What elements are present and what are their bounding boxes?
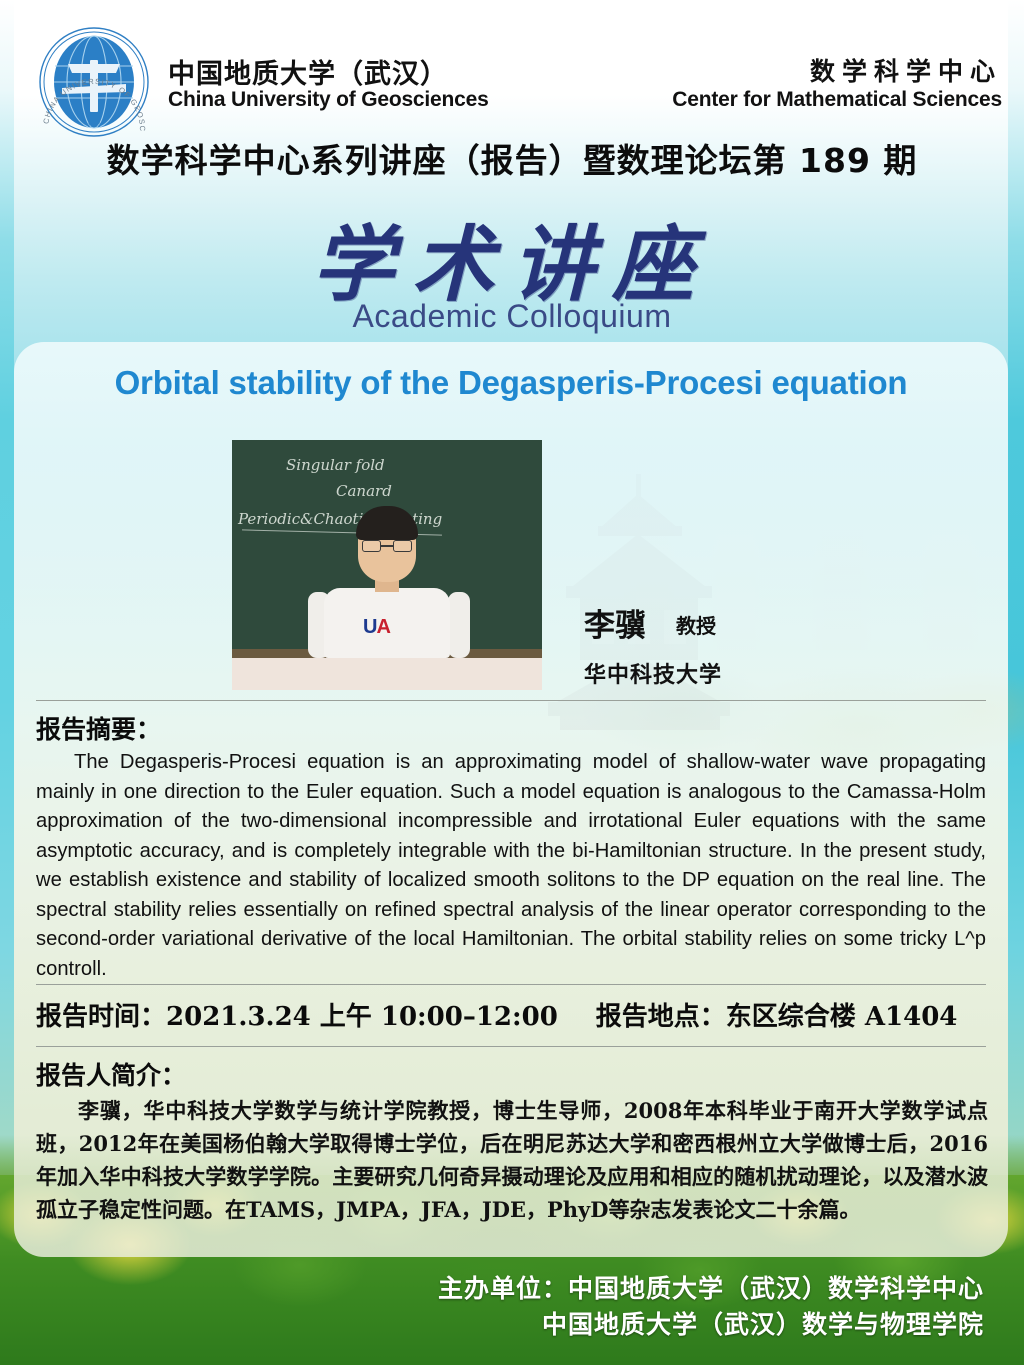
calligraphy-title-en: Academic Colloquium — [0, 298, 1024, 335]
poster-header: 1952 CHINA UNIVERSITY OF GEOSCIENCES 中国地… — [0, 0, 1024, 118]
university-name-cn: 中国地质大学（武汉） — [168, 52, 448, 91]
shirt-logo: UA — [363, 616, 411, 638]
blackboard-line-1: Singular fold — [286, 456, 385, 474]
footer-line-1: 主办单位：中国地质大学（武汉）数学科学中心 — [0, 1271, 984, 1307]
talk-title: Orbital stability of the Degasperis-Proc… — [14, 364, 1008, 402]
blackboard-line-2: Canard — [336, 482, 392, 500]
poster-footer: 主办单位：中国地质大学（武汉）数学科学中心 中国地质大学（武汉）数学与物理学院 — [0, 1271, 1024, 1343]
background-left-gutter — [0, 0, 14, 1240]
speaker-glasses-icon — [362, 540, 412, 552]
cug-globe-logo-icon: 1952 CHINA UNIVERSITY OF GEOSCIENCES — [38, 26, 150, 138]
event-place-value: 东区综合楼 A1404 — [726, 1002, 958, 1032]
university-name-en: China University of Geosciences — [168, 88, 489, 112]
content-card: Orbital stability of the Degasperis-Proc… — [14, 342, 1008, 1257]
abstract-heading: 报告摘要： — [36, 710, 161, 746]
poster-root: 1952 CHINA UNIVERSITY OF GEOSCIENCES 中国地… — [0, 0, 1024, 1365]
svg-text:1952: 1952 — [87, 123, 101, 129]
event-place-label: 报告地点： — [596, 1002, 726, 1032]
event-details: 报告时间：2021.3.24 上午 10:00–12:00报告地点：东区综合楼 … — [36, 996, 986, 1033]
speaker-name: 李骥 — [584, 600, 646, 645]
photo-wall — [232, 658, 542, 690]
divider-above-event — [36, 984, 986, 985]
speaker-arm-right — [448, 592, 470, 658]
speaker-affiliation: 华中科技大学 — [584, 657, 722, 689]
bio-heading: 报告人简介： — [36, 1056, 186, 1092]
abstract-text: The Degasperis-Procesi equation is an ap… — [36, 748, 986, 984]
event-time-value: 2021.3.24 上午 10:00–12:00 — [166, 1002, 558, 1032]
event-time-label: 报告时间： — [36, 1002, 166, 1032]
footer-line-2: 中国地质大学（武汉）数学与物理学院 — [0, 1307, 984, 1343]
series-line: 数学科学中心系列讲座（报告）暨数理论坛第 189 期 — [0, 134, 1024, 182]
center-name-cn: 数学科学中心 — [810, 52, 1002, 88]
center-name-en: Center for Mathematical Sciences — [672, 88, 1002, 112]
speaker-academic-title: 教授 — [676, 610, 716, 639]
divider-above-abstract — [36, 700, 986, 701]
divider-above-bio — [36, 1046, 986, 1047]
speaker-photo: Singular fold Canard Periodic&Chaotic Bu… — [232, 440, 542, 690]
bio-text: 李骥，华中科技大学数学与统计学院教授，博士生导师，2008年本科毕业于南开大学数… — [36, 1094, 988, 1226]
